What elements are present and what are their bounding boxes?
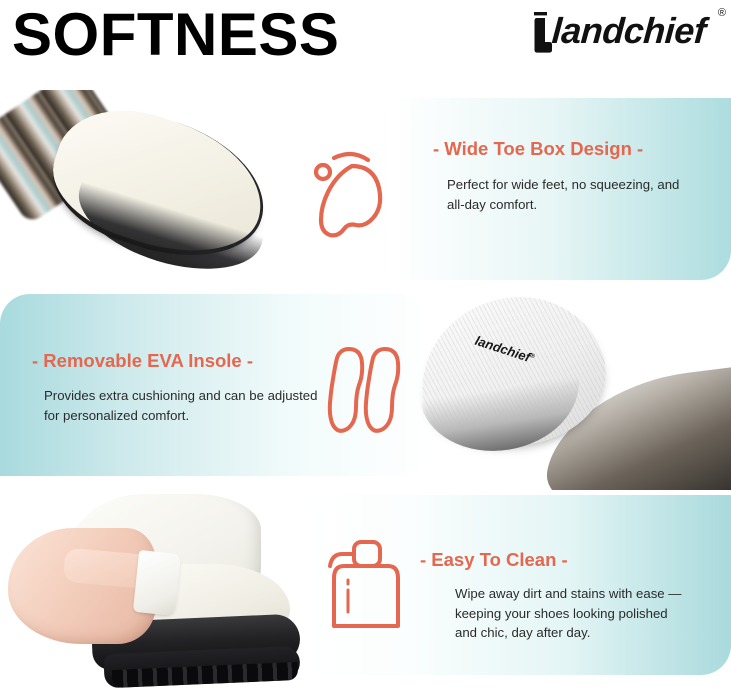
boot-icon — [530, 12, 552, 56]
feature-title-easy-to-clean: - Easy To Clean - — [420, 549, 568, 571]
header: SOFTNESS landchief ® — [0, 0, 731, 88]
footprint-icon — [312, 140, 408, 248]
feature-title-removable-eva-insole: - Removable EVA Insole - — [32, 350, 253, 372]
spray-bottle-icon — [322, 532, 410, 638]
insole-pair-icon — [327, 341, 409, 435]
cleaning-cloth — [133, 550, 181, 616]
registered-mark: ® — [718, 8, 726, 19]
feature-title-wide-toe-box: - Wide Toe Box Design - — [433, 138, 643, 160]
photo-hand-wiping-boot — [0, 490, 300, 695]
brand-name: landchief — [551, 10, 707, 52]
feature-body-easy-to-clean: Wipe away dirt and stains with ease — ke… — [455, 584, 685, 643]
feature-body-wide-toe-box: Perfect for wide feet, no squeezing, and… — [447, 175, 697, 214]
photo-shoe-toe-closeup — [0, 90, 300, 290]
brand-logo: landchief ® — [528, 8, 728, 58]
page-title: SOFTNESS — [12, 1, 339, 69]
photo-insole-with-logo: landchief® — [400, 290, 731, 490]
product-infographic: SOFTNESS landchief ® - Wide Toe Box Desi… — [0, 0, 731, 695]
feature-body-removable-eva-insole: Provides extra cushioning and can be adj… — [44, 386, 319, 425]
